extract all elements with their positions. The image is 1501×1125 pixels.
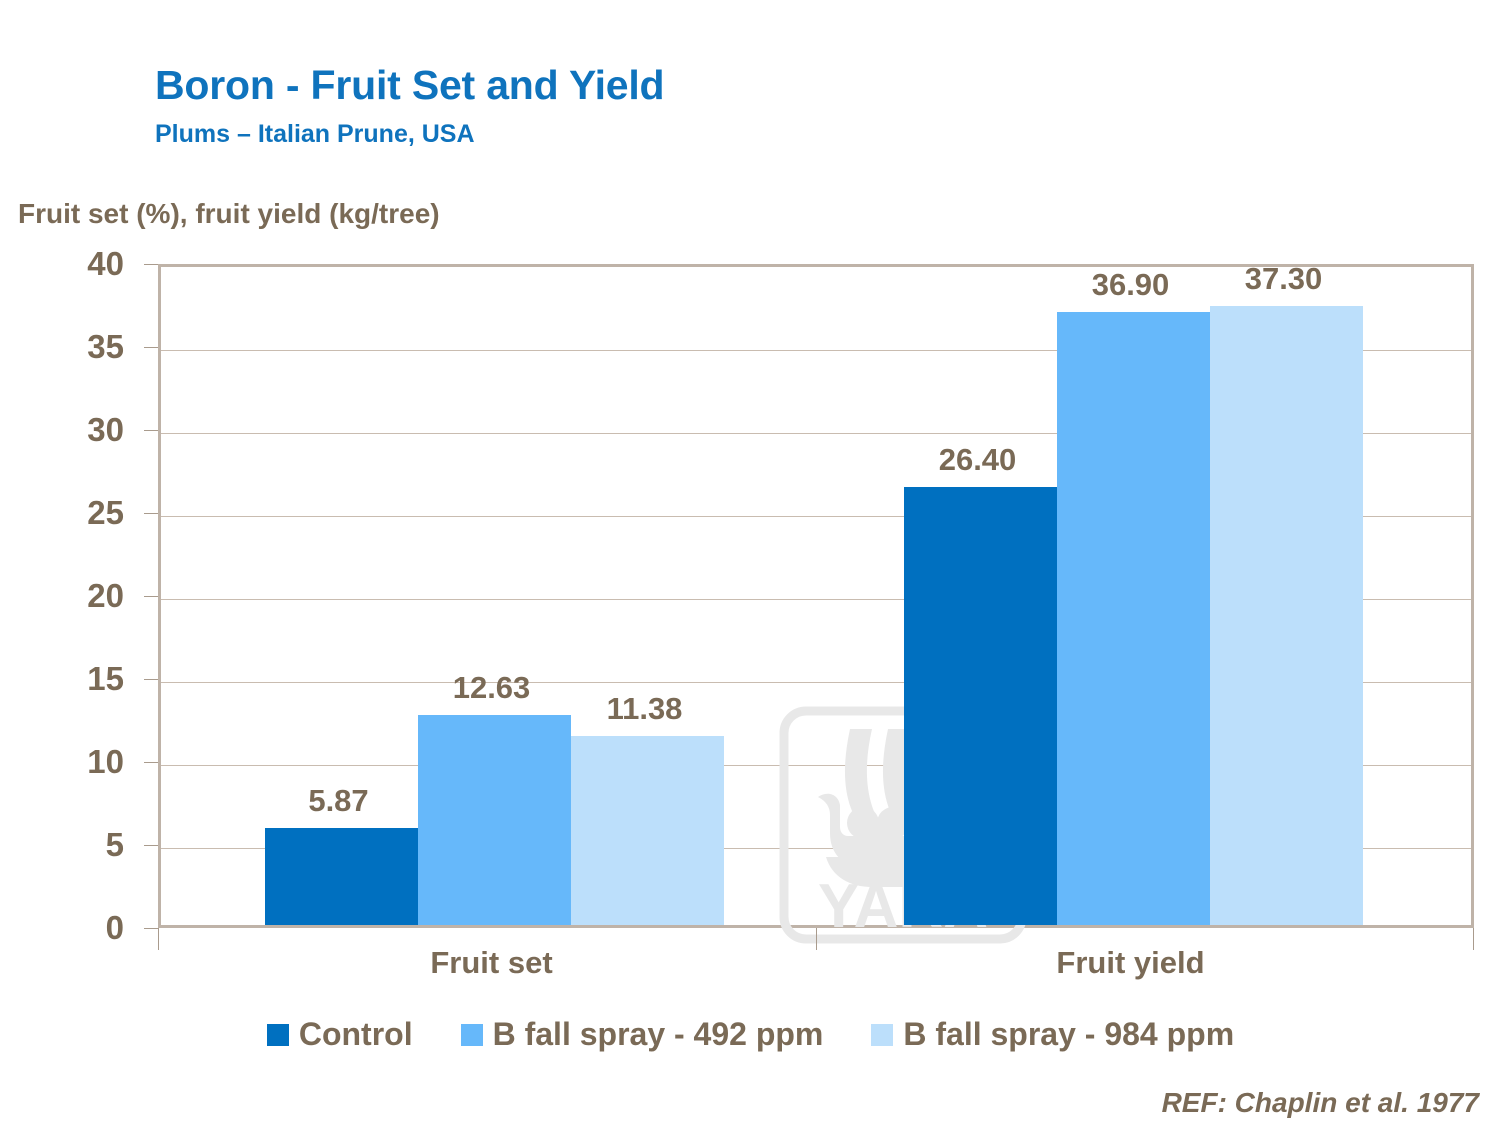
bar[interactable] <box>265 828 418 925</box>
y-axis-tick-mark <box>144 928 158 929</box>
y-axis-tick-label: 20 <box>14 577 124 615</box>
y-axis-tick-mark <box>144 845 158 846</box>
bar-value-label: 11.38 <box>607 691 683 727</box>
legend-item[interactable]: B fall spray - 984 ppm <box>871 1016 1234 1053</box>
y-axis-tick-label: 40 <box>14 245 124 283</box>
category-label: Fruit set <box>430 945 552 981</box>
x-axis-tick-left <box>158 928 159 950</box>
y-axis-tick-label: 5 <box>14 826 124 864</box>
y-axis-tick-label: 10 <box>14 743 124 781</box>
y-axis-tick-label: 30 <box>14 411 124 449</box>
page-title: Boron - Fruit Set and Yield <box>155 62 664 109</box>
x-axis-tick-middle <box>816 928 817 950</box>
chart-subtitle: Plums – Italian Prune, USA <box>155 120 475 149</box>
bar-value-label: 26.40 <box>939 442 1017 478</box>
y-axis-tick-label: 25 <box>14 494 124 532</box>
legend-label: Control <box>299 1016 413 1053</box>
legend-label: B fall spray - 984 ppm <box>903 1016 1234 1053</box>
y-axis-tick-mark <box>144 596 158 597</box>
y-axis-title: Fruit set (%), fruit yield (kg/tree) <box>18 198 440 230</box>
bar-value-label: 37.30 <box>1245 261 1323 297</box>
y-axis-tick-mark <box>144 513 158 514</box>
category-label: Fruit yield <box>1056 945 1204 981</box>
x-axis-tick-right <box>1473 928 1474 950</box>
legend-swatch-icon <box>871 1024 893 1046</box>
bar[interactable] <box>571 736 724 925</box>
y-axis-tick-label: 0 <box>14 909 124 947</box>
chart-legend: ControlB fall spray - 492 ppmB fall spra… <box>0 1016 1501 1053</box>
legend-item[interactable]: B fall spray - 492 ppm <box>461 1016 824 1053</box>
bar[interactable] <box>418 715 571 925</box>
bar[interactable] <box>1210 306 1363 925</box>
y-axis-tick-mark <box>144 264 158 265</box>
legend-item[interactable]: Control <box>267 1016 413 1053</box>
y-axis-tick-label: 15 <box>14 660 124 698</box>
y-axis-tick-mark <box>144 430 158 431</box>
bar-value-label: 12.63 <box>453 670 531 706</box>
bar-value-label: 5.87 <box>308 783 368 819</box>
bar-value-label: 36.90 <box>1092 267 1170 303</box>
legend-swatch-icon <box>461 1024 483 1046</box>
legend-label: B fall spray - 492 ppm <box>493 1016 824 1053</box>
bar[interactable] <box>1057 312 1210 925</box>
y-axis-tick-mark <box>144 347 158 348</box>
bar[interactable] <box>904 487 1057 925</box>
plot-area: YARA <box>158 264 1474 928</box>
y-axis-tick-label: 35 <box>14 328 124 366</box>
y-axis-tick-mark <box>144 762 158 763</box>
reference-note: REF: Chaplin et al. 1977 <box>1162 1087 1479 1119</box>
y-axis-tick-mark <box>144 679 158 680</box>
legend-swatch-icon <box>267 1024 289 1046</box>
